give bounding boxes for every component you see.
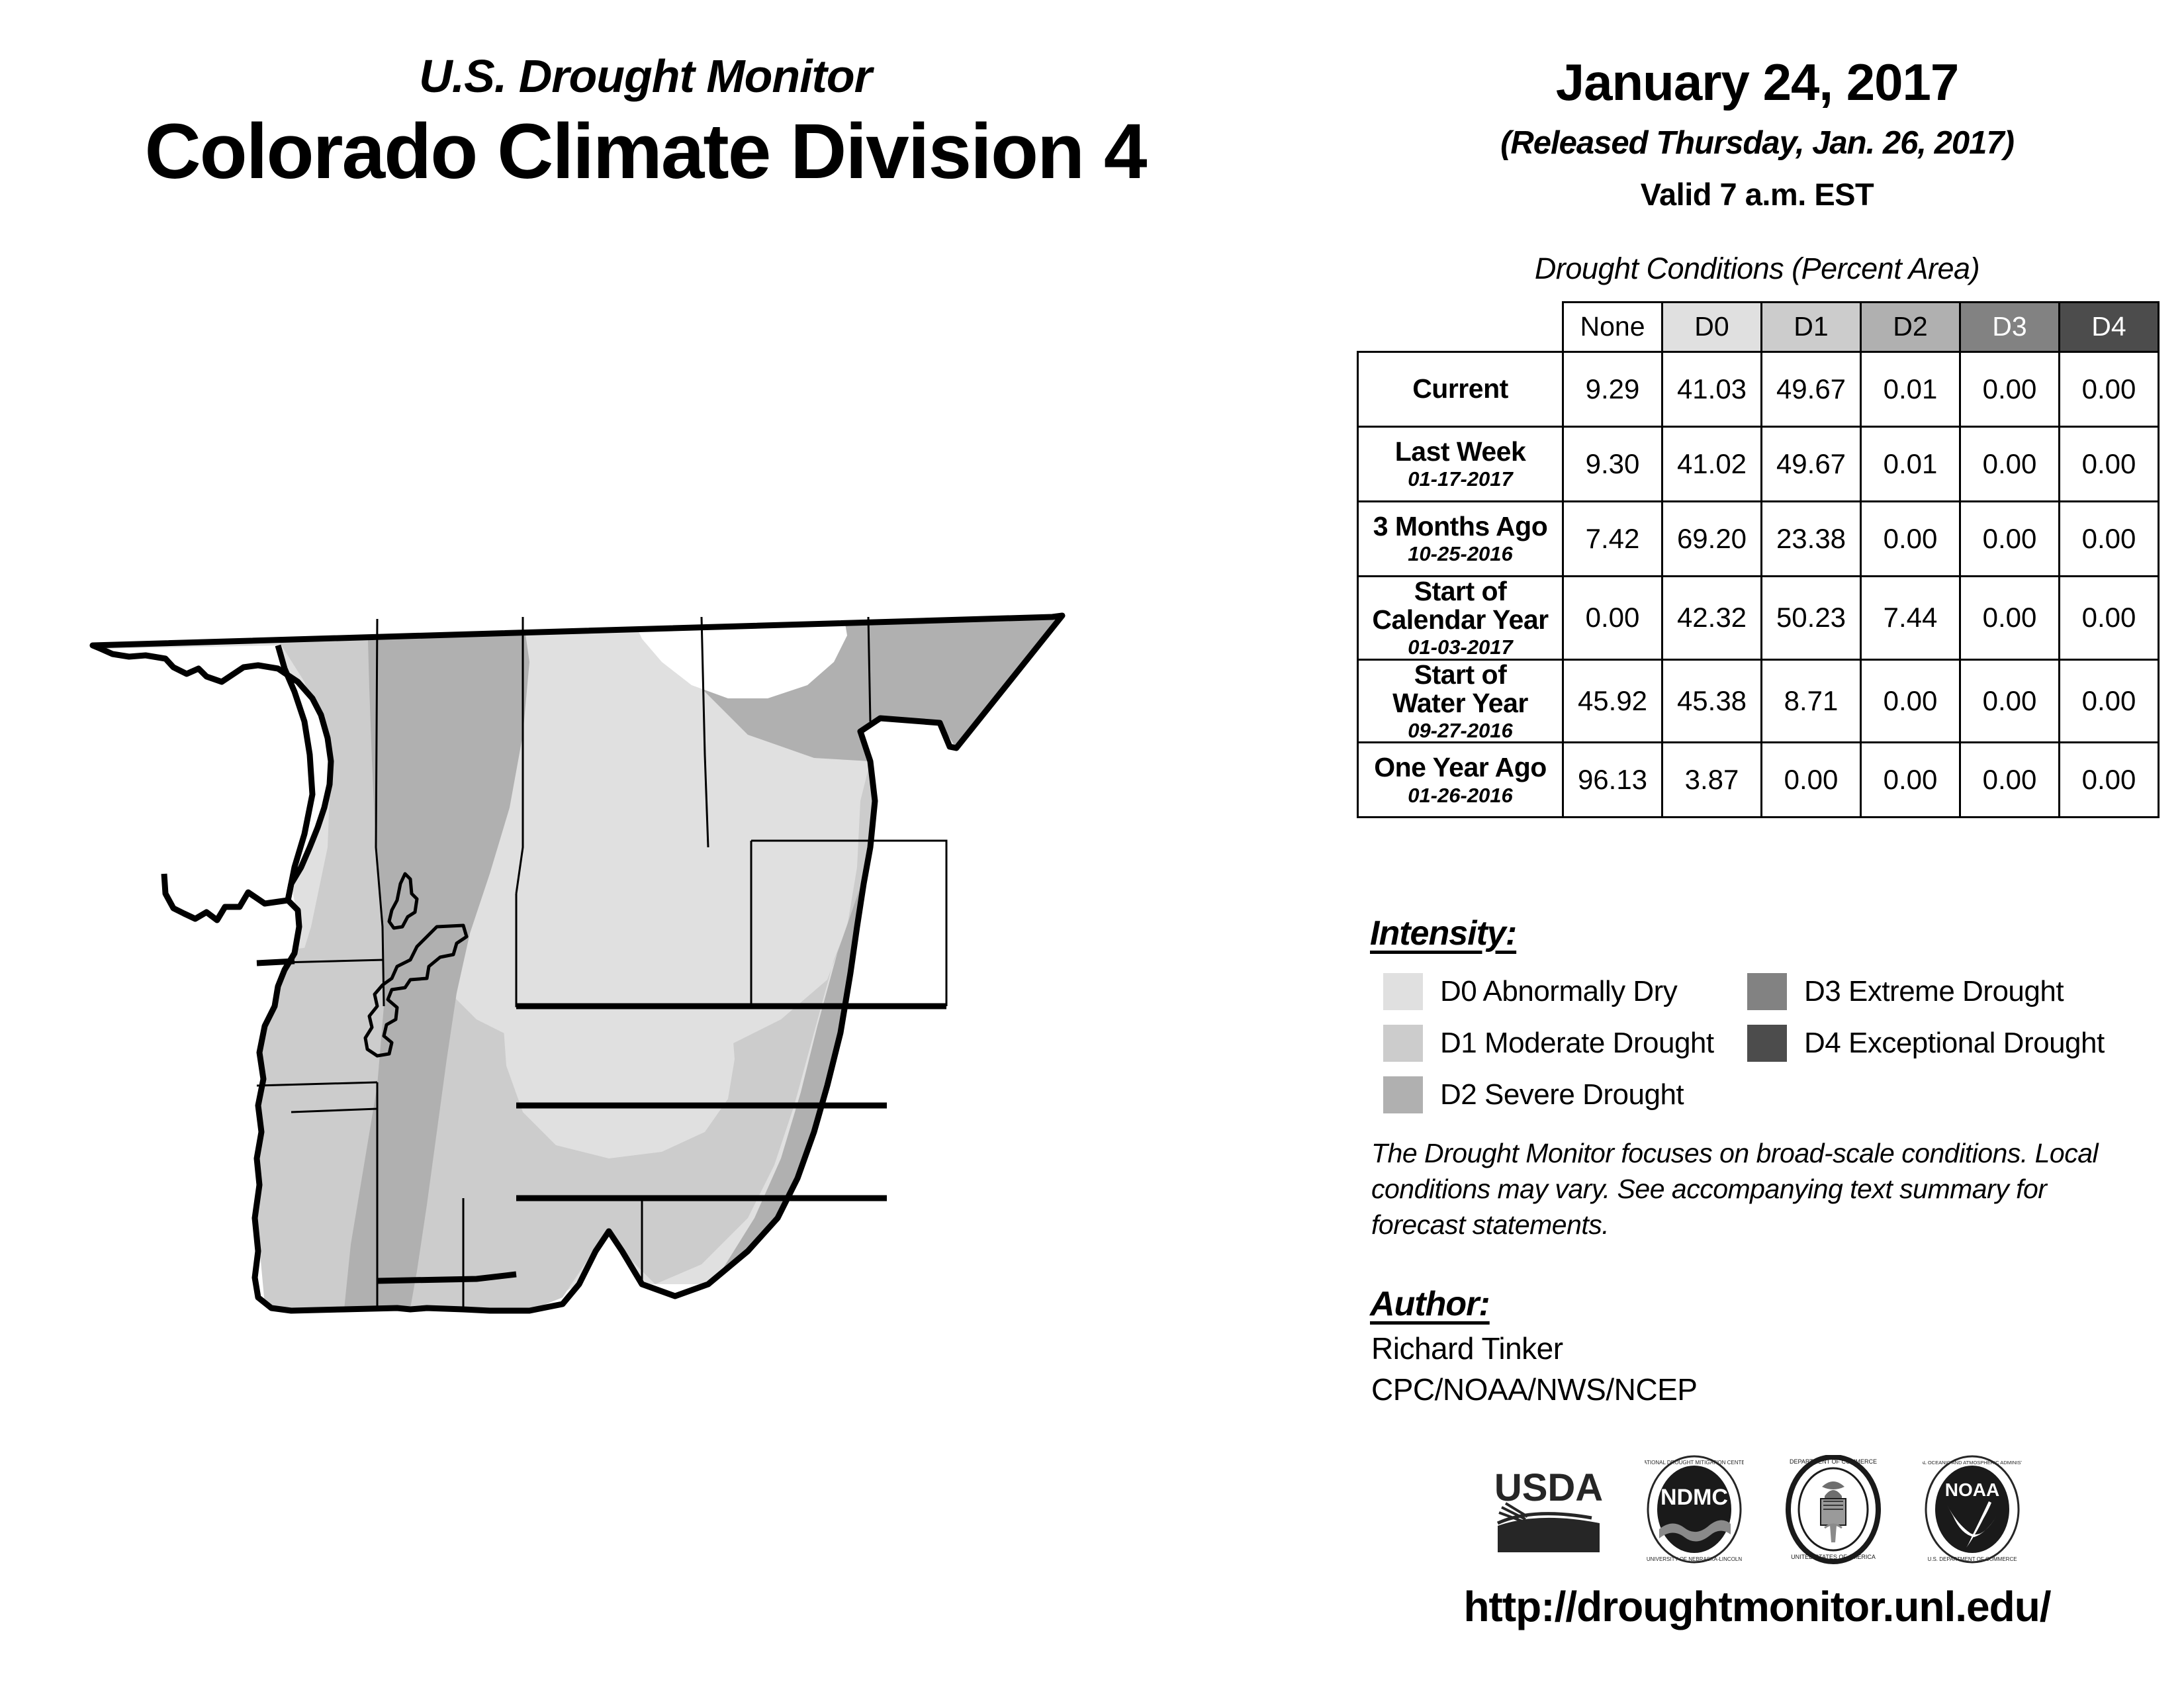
cell-calyear-d0: 42.32 <box>1662 577 1762 660</box>
cell-current-d4: 0.00 <box>2060 352 2159 427</box>
legend-swatch-d2 <box>1383 1076 1423 1113</box>
cell-oneyear-d1: 0.00 <box>1762 743 1861 818</box>
website-url[interactable]: http://droughtmonitor.unl.edu/ <box>1357 1582 2158 1631</box>
ndmc-logo-ring-bottom: UNIVERSITY OF NEBRASKA-LINCOLN <box>1647 1556 1743 1562</box>
cell-calyear-d2: 7.44 <box>1861 577 1960 660</box>
drought-map[interactable] <box>66 583 1324 1324</box>
table-row: One Year Ago 01-26-2016 96.13 3.87 0.00 … <box>1358 743 2159 818</box>
author-heading: Author: <box>1370 1284 1490 1324</box>
agency-logos: USDA NDMC NATIONAL DROUGHT MITIGATION CE… <box>1357 1443 2158 1575</box>
column-header-d1[interactable]: D1 <box>1762 303 1861 352</box>
cell-3months-d2: 0.00 <box>1861 502 1960 577</box>
cell-lastweek-d0: 41.02 <box>1662 427 1762 502</box>
legend-item-d3: D3 Extreme Drought <box>1747 973 2064 1010</box>
table-header-row: None D0 D1 D2 D3 D4 <box>1358 303 2159 352</box>
column-header-d2[interactable]: D2 <box>1861 303 1960 352</box>
table-row: Start of Water Year 09-27-2016 45.92 45.… <box>1358 659 2159 743</box>
table-row: Last Week 01-17-2017 9.30 41.02 49.67 0.… <box>1358 427 2159 502</box>
noaa-logo-text: NOAA <box>1945 1479 1999 1500</box>
row-label-text: Last Week <box>1395 436 1526 467</box>
report-date: January 24, 2017 <box>1357 56 2158 108</box>
row-label-text: Start of Calendar Year <box>1372 576 1548 635</box>
row-label-text: One Year Ago <box>1374 752 1547 782</box>
cell-current-d3: 0.00 <box>1960 352 2060 427</box>
row-label-start-calendar-year: Start of Calendar Year 01-03-2017 <box>1358 577 1563 660</box>
row-label-text: 3 Months Ago <box>1373 511 1548 541</box>
cell-lastweek-d1: 49.67 <box>1762 427 1861 502</box>
map-fill-none-westblock <box>101 645 312 920</box>
page-subtitle: U.S. Drought Monitor <box>0 53 1291 99</box>
cell-calyear-none: 0.00 <box>1563 577 1662 660</box>
ndmc-logo-text: NDMC <box>1661 1485 1728 1510</box>
table-row: 3 Months Ago 10-25-2016 7.42 69.20 23.38… <box>1358 502 2159 577</box>
cell-wateryear-d4: 0.00 <box>2060 659 2159 743</box>
report-valid-time: Valid 7 a.m. EST <box>1357 179 2158 210</box>
table-caption: Drought Conditions (Percent Area) <box>1357 252 2158 286</box>
ndmc-logo-ring-top: NATIONAL DROUGHT MITIGATION CENTER <box>1645 1460 1744 1466</box>
map-svg[interactable] <box>66 583 1324 1324</box>
row-label-date: 09-27-2016 <box>1359 720 1562 742</box>
cell-oneyear-d4: 0.00 <box>2060 743 2159 818</box>
drought-conditions-table[interactable]: None D0 D1 D2 D3 D4 Current 9.29 41.03 4… <box>1357 301 2160 818</box>
legend-swatch-d4 <box>1747 1025 1787 1062</box>
doc-logo: DEPARTMENT OF COMMERCE UNITED STATES OF … <box>1784 1455 1883 1564</box>
author-heading-text: Author: <box>1370 1285 1490 1323</box>
cell-calyear-d1: 50.23 <box>1762 577 1861 660</box>
intensity-heading-text: Intensity: <box>1370 914 1516 953</box>
legend-item-d4: D4 Exceptional Drought <box>1747 1025 2105 1062</box>
row-label-date: 01-03-2017 <box>1359 637 1562 659</box>
table-corner-cell <box>1358 303 1563 352</box>
cell-oneyear-d3: 0.00 <box>1960 743 2060 818</box>
cell-lastweek-d4: 0.00 <box>2060 427 2159 502</box>
row-label-last-week: Last Week 01-17-2017 <box>1358 427 1563 502</box>
cell-lastweek-d2: 0.01 <box>1861 427 1960 502</box>
legend-label-d1: D1 Moderate Drought <box>1440 1027 1714 1060</box>
table-row: Current 9.29 41.03 49.67 0.01 0.00 0.00 <box>1358 352 2159 427</box>
noaa-logo-ring-top: NATIONAL OCEANIC AND ATMOSPHERIC ADMINIS… <box>1923 1460 2022 1466</box>
cell-3months-d4: 0.00 <box>2060 502 2159 577</box>
row-label-date: 01-26-2016 <box>1359 785 1562 807</box>
doc-logo-ring-bottom: UNITED STATES OF AMERICA <box>1791 1554 1876 1560</box>
legend-label-d2: D2 Severe Drought <box>1440 1078 1684 1111</box>
cell-oneyear-none: 96.13 <box>1563 743 1662 818</box>
column-header-d4[interactable]: D4 <box>2060 303 2159 352</box>
cell-3months-d3: 0.00 <box>1960 502 2060 577</box>
legend-swatch-d0 <box>1383 973 1423 1010</box>
cell-lastweek-d3: 0.00 <box>1960 427 2060 502</box>
cell-current-d2: 0.01 <box>1861 352 1960 427</box>
cell-oneyear-d0: 3.87 <box>1662 743 1762 818</box>
noaa-logo: NOAA NATIONAL OCEANIC AND ATMOSPHERIC AD… <box>1923 1455 2022 1564</box>
right-panel: January 24, 2017 (Released Thursday, Jan… <box>1357 0 2184 1688</box>
doc-logo-ring-top: DEPARTMENT OF COMMERCE <box>1790 1458 1877 1465</box>
cell-3months-d1: 23.38 <box>1762 502 1861 577</box>
disclaimer-text: The Drought Monitor focuses on broad-sca… <box>1371 1135 2139 1243</box>
cell-3months-none: 7.42 <box>1563 502 1662 577</box>
legend-item-d2: D2 Severe Drought <box>1383 1076 1684 1113</box>
cell-current-none: 9.29 <box>1563 352 1662 427</box>
row-label-3-months-ago: 3 Months Ago 10-25-2016 <box>1358 502 1563 577</box>
legend-swatch-d3 <box>1747 973 1787 1010</box>
column-header-none[interactable]: None <box>1563 303 1662 352</box>
cell-lastweek-none: 9.30 <box>1563 427 1662 502</box>
row-label-date: 01-17-2017 <box>1359 469 1562 491</box>
row-label-start-water-year: Start of Water Year 09-27-2016 <box>1358 659 1563 743</box>
noaa-logo-ring-bottom: U.S. DEPARTMENT OF COMMERCE <box>1927 1556 2017 1562</box>
cell-current-d1: 49.67 <box>1762 352 1861 427</box>
author-organization: CPC/NOAA/NWS/NCEP <box>1371 1372 1697 1407</box>
cell-wateryear-d1: 8.71 <box>1762 659 1861 743</box>
cell-current-d0: 41.03 <box>1662 352 1762 427</box>
legend-item-d1: D1 Moderate Drought <box>1383 1025 1714 1062</box>
left-panel: U.S. Drought Monitor Colorado Climate Di… <box>0 0 1357 1688</box>
row-label-text: Start of Water Year <box>1392 659 1528 718</box>
legend-label-d4: D4 Exceptional Drought <box>1804 1027 2105 1060</box>
intensity-heading: Intensity: <box>1370 914 1516 953</box>
row-label-one-year-ago: One Year Ago 01-26-2016 <box>1358 743 1563 818</box>
cell-wateryear-d2: 0.00 <box>1861 659 1960 743</box>
cell-calyear-d4: 0.00 <box>2060 577 2159 660</box>
legend-label-d3: D3 Extreme Drought <box>1804 975 2064 1008</box>
column-header-d3[interactable]: D3 <box>1960 303 2060 352</box>
row-label-current: Current <box>1358 352 1563 427</box>
usda-logo: USDA <box>1492 1460 1605 1559</box>
cell-calyear-d3: 0.00 <box>1960 577 2060 660</box>
row-label-text: Current <box>1412 373 1508 404</box>
report-release-date: (Released Thursday, Jan. 26, 2017) <box>1357 127 2158 160</box>
cell-3months-d0: 69.20 <box>1662 502 1762 577</box>
legend-label-d0: D0 Abnormally Dry <box>1440 975 1677 1008</box>
cell-oneyear-d2: 0.00 <box>1861 743 1960 818</box>
legend-item-d0: D0 Abnormally Dry <box>1383 973 1677 1010</box>
cell-wateryear-none: 45.92 <box>1563 659 1662 743</box>
page-title: Colorado Climate Division 4 <box>0 113 1291 191</box>
cell-wateryear-d3: 0.00 <box>1960 659 2060 743</box>
author-name: Richard Tinker <box>1371 1331 1563 1366</box>
cell-wateryear-d0: 45.38 <box>1662 659 1762 743</box>
table-row: Start of Calendar Year 01-03-2017 0.00 4… <box>1358 577 2159 660</box>
column-header-d0[interactable]: D0 <box>1662 303 1762 352</box>
legend-swatch-d1 <box>1383 1025 1423 1062</box>
ndmc-logo: NDMC NATIONAL DROUGHT MITIGATION CENTER … <box>1645 1455 1744 1564</box>
row-label-date: 10-25-2016 <box>1359 543 1562 565</box>
usda-logo-text: USDA <box>1494 1466 1603 1509</box>
